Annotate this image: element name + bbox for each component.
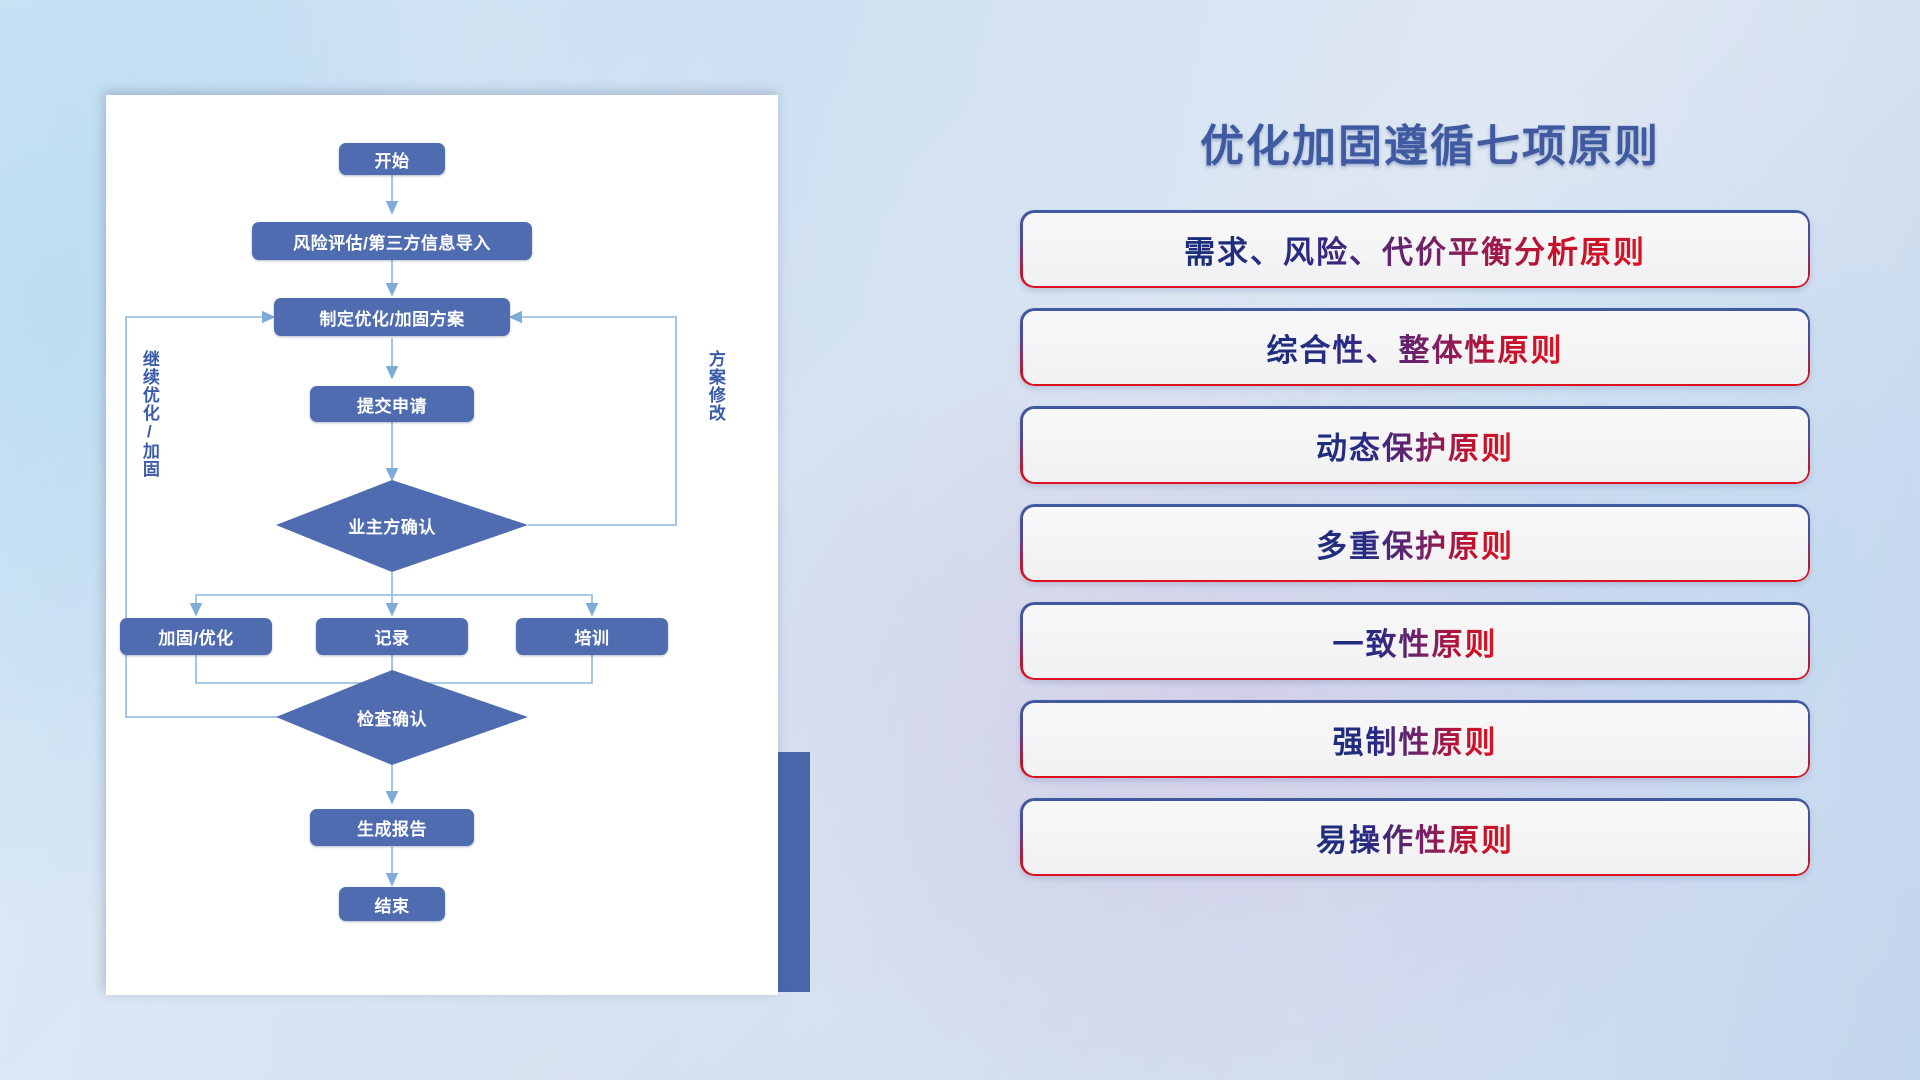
principle-label: 综合性、整体性原则: [1267, 325, 1564, 370]
principle-card[interactable]: 动态保护原则: [1020, 406, 1810, 484]
principle-card[interactable]: 一致性原则: [1020, 602, 1810, 680]
decision-check-confirm: [276, 670, 528, 765]
principles-panel: 优化加固遵循七项原则 需求、风险、代价平衡分析原则 综合性、整体性原则 动态保护…: [1020, 100, 1840, 1000]
principle-card-inner: 动态保护原则: [1023, 409, 1808, 482]
principle-label: 需求、风险、代价平衡分析原则: [1184, 227, 1646, 272]
flow-node-reinforce[interactable]: 加固/优化: [120, 618, 272, 655]
principle-label: 强制性原则: [1333, 717, 1498, 762]
principle-card[interactable]: 综合性、整体性原则: [1020, 308, 1810, 386]
principles-title: 优化加固遵循七项原则: [1020, 110, 1840, 174]
flow-node-risk-assessment[interactable]: 风险评估/第三方信息导入: [252, 222, 532, 260]
principle-card-inner: 易操作性原则: [1023, 801, 1808, 874]
principle-card-inner: 强制性原则: [1023, 703, 1808, 776]
principle-card-inner: 多重保护原则: [1023, 507, 1808, 580]
principle-card-inner: 一致性原则: [1023, 605, 1808, 678]
flow-node-training[interactable]: 培训: [516, 618, 668, 655]
principle-label: 动态保护原则: [1316, 423, 1514, 468]
principle-card[interactable]: 多重保护原则: [1020, 504, 1810, 582]
decision-owner-confirm: [276, 480, 528, 572]
flowchart: 开始 风险评估/第三方信息导入 制定优化/加固方案 提交申请 业主方确认 加固/…: [106, 95, 778, 995]
principle-label: 易操作性原则: [1316, 815, 1514, 860]
flow-node-submit-application[interactable]: 提交申请: [310, 386, 474, 422]
flow-node-generate-report[interactable]: 生成报告: [310, 809, 474, 846]
principle-label: 一致性原则: [1333, 619, 1498, 664]
flowchart-card: 开始 风险评估/第三方信息导入 制定优化/加固方案 提交申请 业主方确认 加固/…: [106, 95, 778, 995]
principle-card[interactable]: 强制性原则: [1020, 700, 1810, 778]
principle-card-inner: 综合性、整体性原则: [1023, 311, 1808, 384]
flow-node-plan[interactable]: 制定优化/加固方案: [274, 298, 510, 336]
principle-label: 多重保护原则: [1316, 521, 1514, 566]
flow-edge-label-plan-revision: 方案修改: [706, 350, 724, 422]
principle-card[interactable]: 需求、风险、代价平衡分析原则: [1020, 210, 1810, 288]
principle-card[interactable]: 易操作性原则: [1020, 798, 1810, 876]
principle-card-inner: 需求、风险、代价平衡分析原则: [1023, 213, 1808, 286]
flow-node-end[interactable]: 结束: [339, 887, 445, 921]
flow-node-start[interactable]: 开始: [339, 143, 445, 175]
flow-node-record[interactable]: 记录: [316, 618, 468, 655]
flow-edge-label-continue-optimize: 继续优化/加固: [140, 350, 158, 478]
